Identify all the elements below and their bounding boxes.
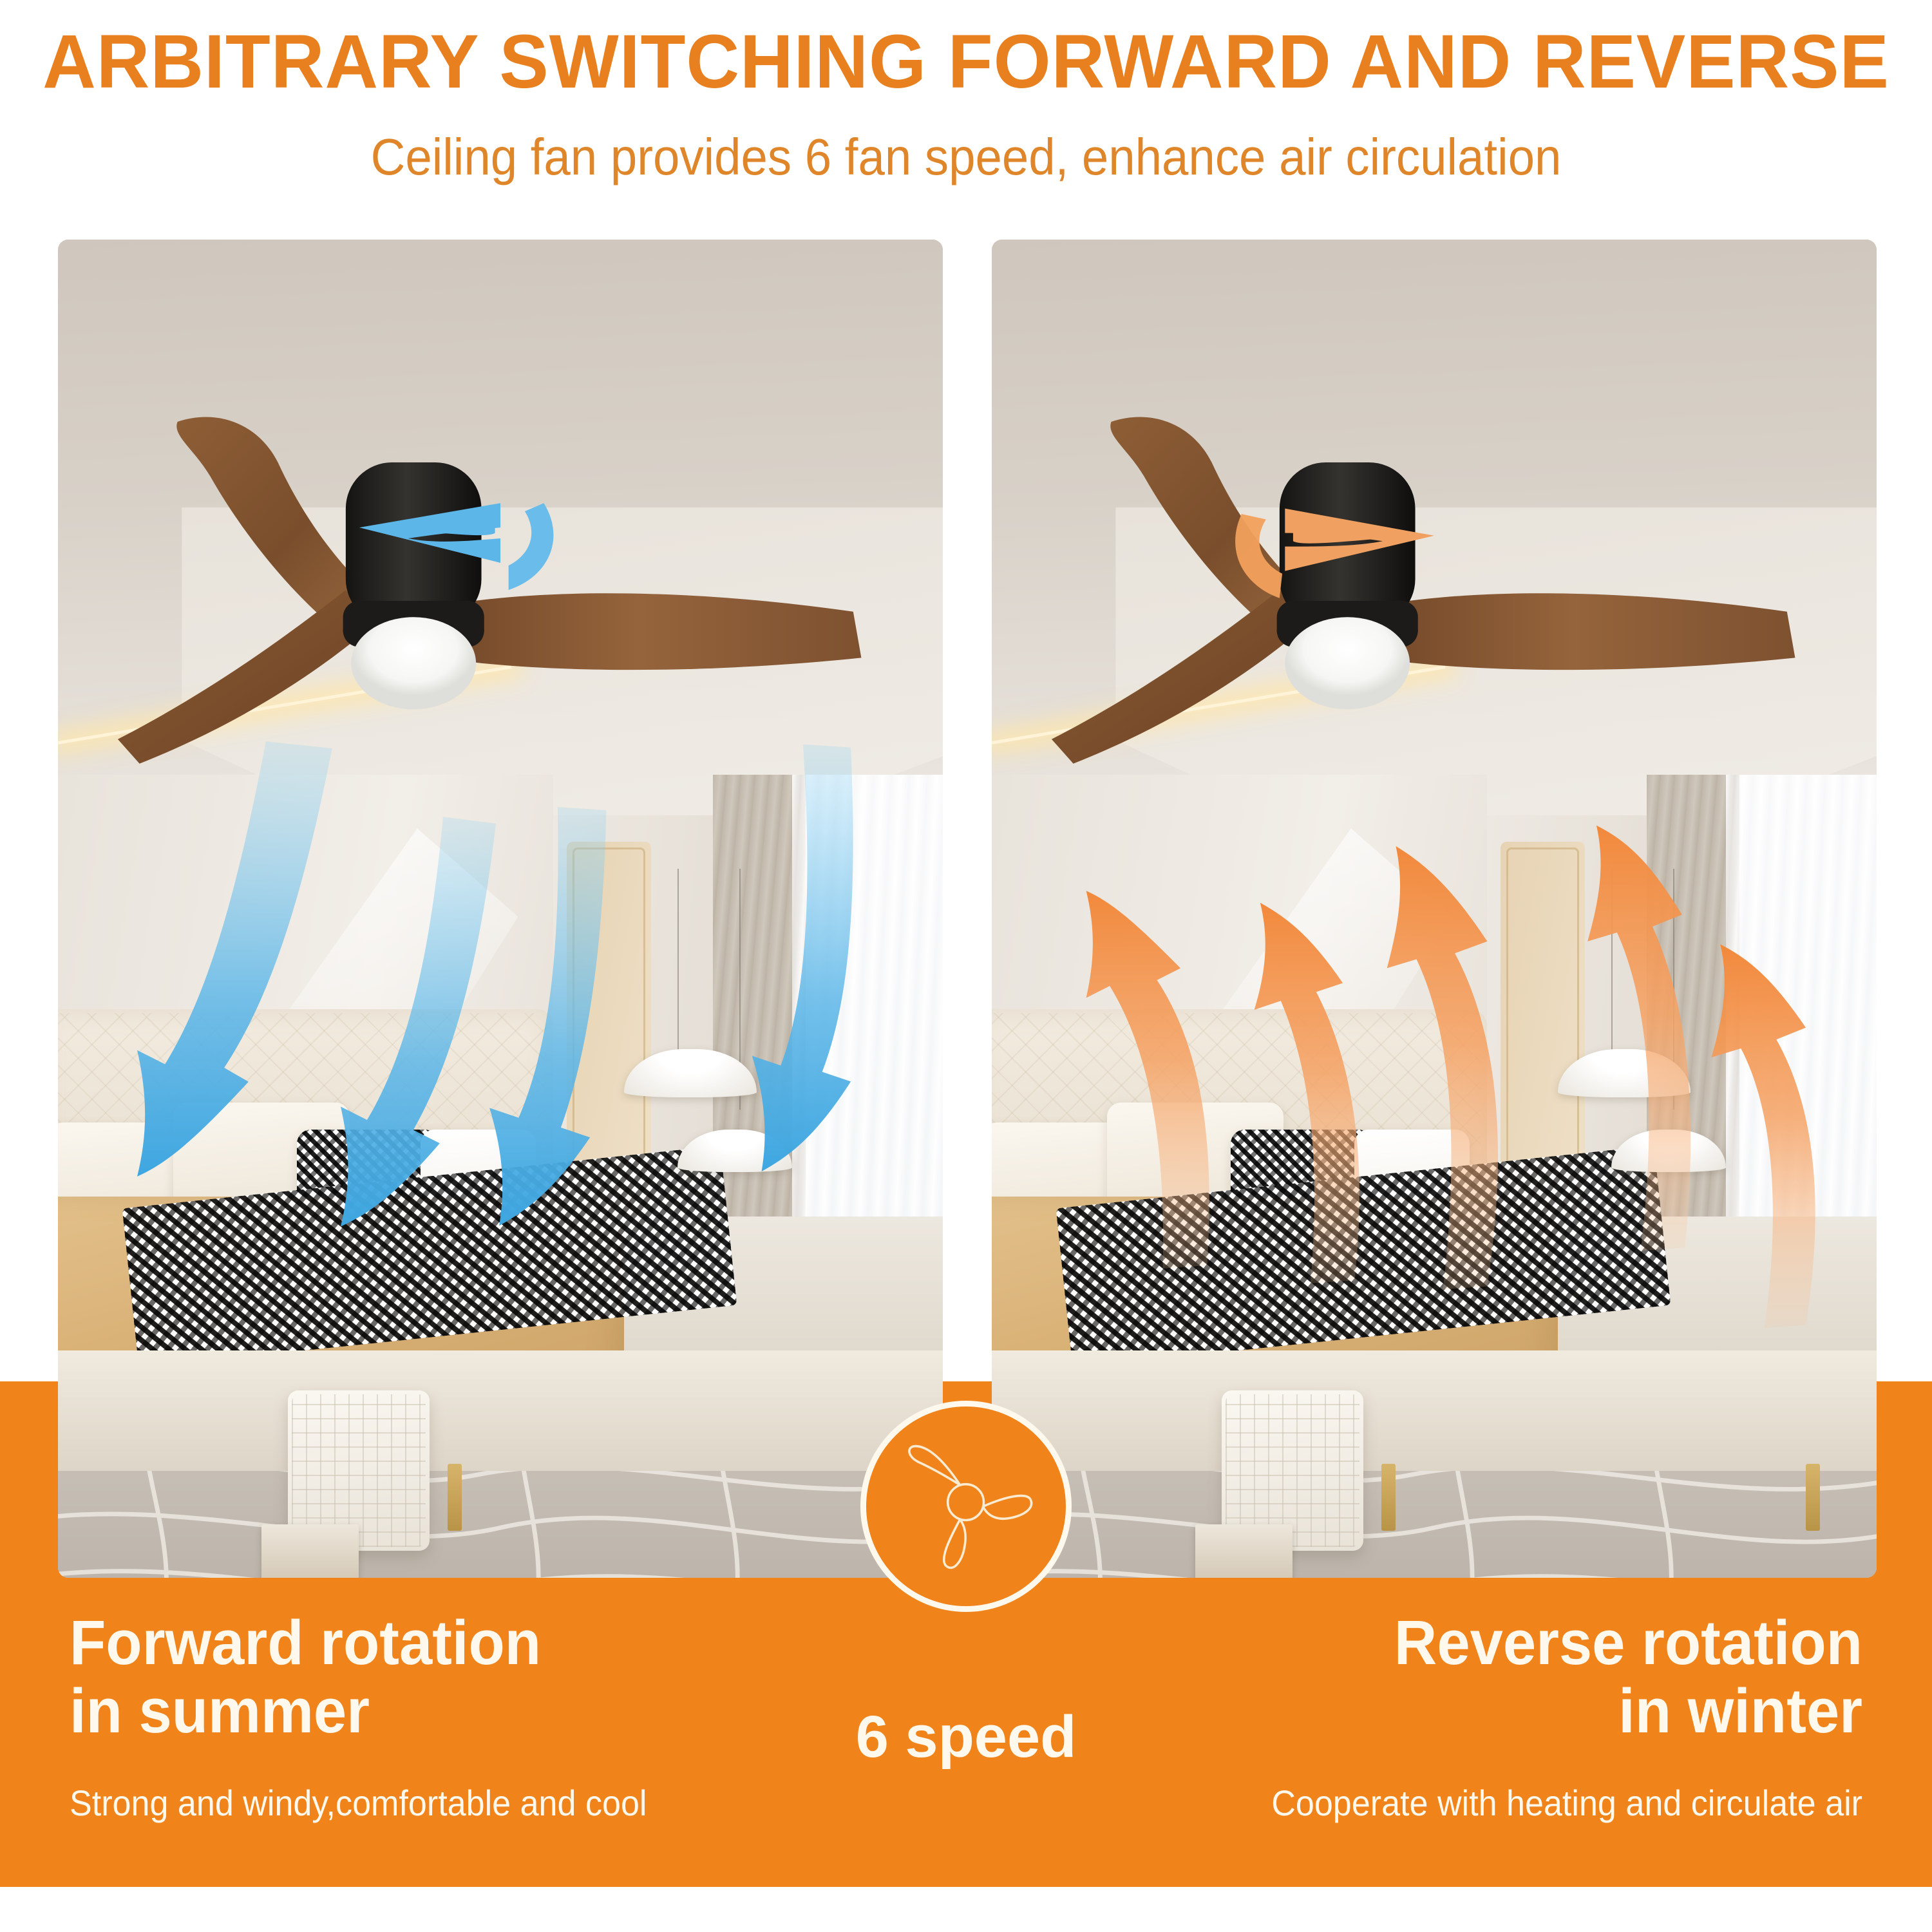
photo-panel-forward [58, 240, 943, 1578]
caption-forward: Forward rotation in summer Strong and wi… [70, 1609, 778, 1824]
bedroom-scene [992, 240, 1877, 1578]
airflow-arrow [1587, 826, 1690, 1251]
airflow-overlay-warm [992, 240, 1877, 1578]
fan-blades-icon [894, 1430, 1037, 1574]
caption-reverse: Reverse rotation in winter Cooperate wit… [1154, 1609, 1862, 1824]
six-speed-badge [860, 1401, 1072, 1612]
airflow-arrow [1255, 903, 1359, 1283]
airflow-arrow [752, 744, 853, 1171]
bedroom-scene [58, 240, 943, 1578]
header: ARBITRARY SWITCHING FORWARD AND REVERSE … [0, 0, 1932, 219]
badge-label: 6 speed [805, 1703, 1127, 1771]
airflow-overlay-cool [58, 240, 943, 1578]
airflow-arrow [1086, 891, 1209, 1268]
caption-forward-sub: Strong and windy,comfortable and cool [70, 1782, 728, 1824]
caption-forward-heading: Forward rotation in summer [70, 1609, 743, 1745]
airflow-arrow [137, 741, 332, 1177]
photo-panel-reverse [992, 240, 1877, 1578]
page-title: ARBITRARY SWITCHING FORWARD AND REVERSE [29, 18, 1903, 106]
page-subtitle: Ceiling fan provides 6 fan speed, enhanc… [68, 128, 1864, 187]
caption-reverse-heading: Reverse rotation in winter [1189, 1609, 1862, 1745]
airflow-arrow [341, 817, 496, 1226]
airflow-arrow [489, 807, 606, 1226]
airflow-arrow [1712, 944, 1815, 1328]
caption-reverse-sub: Cooperate with heating and circulate air [1204, 1782, 1862, 1824]
airflow-arrow [1387, 846, 1498, 1289]
